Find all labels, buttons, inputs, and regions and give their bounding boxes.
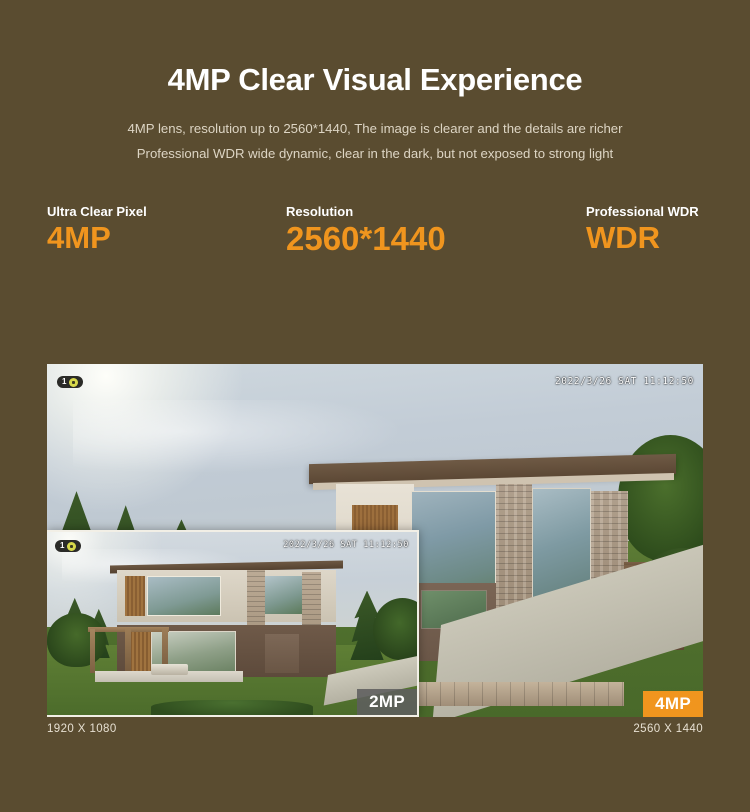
page-subtitle: 4MP lens, resolution up to 2560*1440, Th… bbox=[0, 116, 750, 166]
inset-scene: 1 2022/3/26 SAT 11:12:50 2MP bbox=[47, 532, 417, 715]
channel-number: 1 bbox=[62, 378, 66, 386]
feature-value: WDR bbox=[586, 222, 699, 255]
feature-resolution: Resolution 2560*1440 bbox=[286, 204, 446, 257]
caption-4mp-resolution: 2560 X 1440 bbox=[633, 723, 703, 735]
resolution-badge-2mp: 2MP bbox=[357, 689, 417, 715]
comparison-image-stage: 1 2022/3/26 SAT 11:12:50 4MP bbox=[47, 364, 703, 717]
tree-mass bbox=[47, 613, 106, 668]
feature-value: 4MP bbox=[47, 222, 147, 255]
pergola-post bbox=[90, 629, 96, 673]
page-title: 4MP Clear Visual Experience bbox=[0, 62, 750, 98]
feature-professional-wdr: Professional WDR WDR bbox=[586, 204, 699, 255]
osd-channel-badge: 1 bbox=[57, 376, 83, 388]
feature-label: Professional WDR bbox=[586, 204, 699, 219]
feature-label: Ultra Clear Pixel bbox=[47, 204, 147, 219]
inset-camera-view-2mp: 1 2022/3/26 SAT 11:12:50 2MP bbox=[47, 530, 419, 717]
caption-2mp-resolution: 1920 X 1080 bbox=[47, 723, 117, 735]
pergola-post bbox=[125, 629, 131, 673]
upper-window-glass bbox=[265, 576, 302, 614]
channel-number: 1 bbox=[60, 542, 64, 550]
eye-icon bbox=[67, 542, 76, 551]
osd-channel-badge: 1 bbox=[55, 540, 81, 552]
eye-icon bbox=[69, 378, 78, 387]
upper-window-glass bbox=[147, 576, 221, 616]
osd-timestamp: 2022/3/26 SAT 11:12:50 bbox=[555, 376, 694, 387]
hedge bbox=[151, 700, 314, 715]
feature-value: 2560*1440 bbox=[286, 222, 446, 257]
subtitle-line-2: Professional WDR wide dynamic, clear in … bbox=[0, 141, 750, 166]
resolution-badge-4mp: 4MP bbox=[643, 691, 703, 717]
wood-slat-panel bbox=[125, 576, 145, 616]
feature-label: Resolution bbox=[286, 204, 446, 219]
osd-timestamp: 2022/3/26 SAT 11:12:50 bbox=[283, 540, 409, 550]
patio-furniture bbox=[151, 664, 188, 675]
entry-door bbox=[265, 634, 298, 672]
feature-list: Ultra Clear Pixel 4MP Resolution 2560*14… bbox=[0, 198, 750, 260]
feature-ultra-clear-pixel: Ultra Clear Pixel 4MP bbox=[47, 204, 147, 255]
subtitle-line-1: 4MP lens, resolution up to 2560*1440, Th… bbox=[0, 116, 750, 141]
wood-slat-panel bbox=[128, 631, 150, 673]
